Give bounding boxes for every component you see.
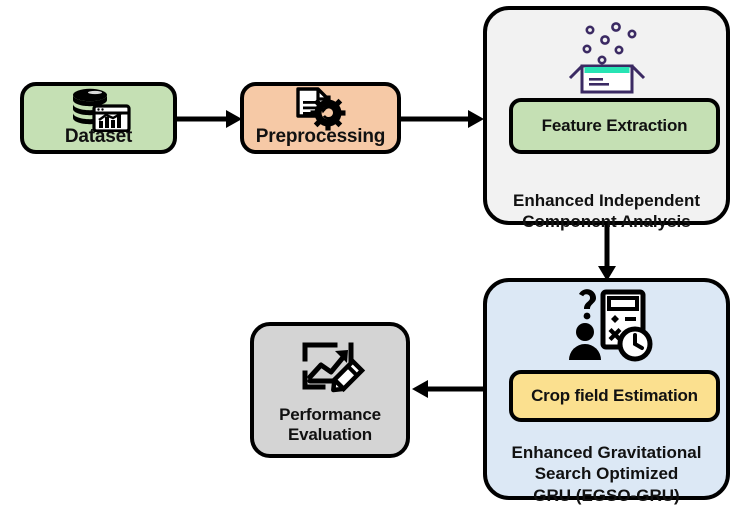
node-egso-caption-line3: GRU (EGSO-GRU)	[512, 485, 702, 506]
arrow-dataset-to-preprocessing	[172, 104, 246, 134]
node-performance-evaluation-label-line2: Evaluation	[279, 425, 381, 445]
node-egso-caption: Enhanced Gravitational Search Optimized …	[512, 442, 702, 506]
node-feature-extraction-label: Feature Extraction	[542, 116, 688, 136]
node-egso-caption-line2: Search Optimized	[512, 463, 702, 484]
node-performance-evaluation-label: Performance Evaluation	[279, 405, 381, 445]
node-eica-caption-line1: Enhanced Independent	[513, 190, 700, 211]
arrow-egso-to-performance	[406, 374, 488, 404]
chart-pencil-icon	[293, 337, 367, 399]
node-enhanced-independent-component-analysis[interactable]: Feature Extraction Enhanced Independent …	[483, 6, 730, 225]
node-feature-extraction[interactable]: Feature Extraction	[509, 98, 720, 154]
node-dataset[interactable]: Dataset	[20, 82, 177, 154]
person-question-calculator-clock-icon	[559, 288, 655, 364]
node-crop-field-estimation-label: Crop field Estimation	[531, 386, 698, 406]
node-eica-caption-line2: Component Analysis	[513, 211, 700, 232]
node-egso-caption-line1: Enhanced Gravitational	[512, 442, 702, 463]
node-performance-evaluation-label-line1: Performance	[279, 405, 381, 425]
node-enhanced-gravitational-search-optimized-gru[interactable]: Crop field Estimation Enhanced Gravitati…	[483, 278, 730, 500]
arrow-preprocessing-to-eica	[396, 104, 488, 134]
node-crop-field-estimation[interactable]: Crop field Estimation	[509, 370, 720, 422]
open-box-particles-icon	[564, 18, 650, 94]
document-gear-icon	[290, 87, 352, 131]
node-performance-evaluation[interactable]: Performance Evaluation	[250, 322, 410, 458]
database-chart-icon	[66, 88, 132, 132]
flow-diagram: Dataset	[0, 0, 748, 506]
node-preprocessing[interactable]: Preprocessing	[240, 82, 401, 154]
node-eica-caption: Enhanced Independent Component Analysis	[513, 190, 700, 233]
